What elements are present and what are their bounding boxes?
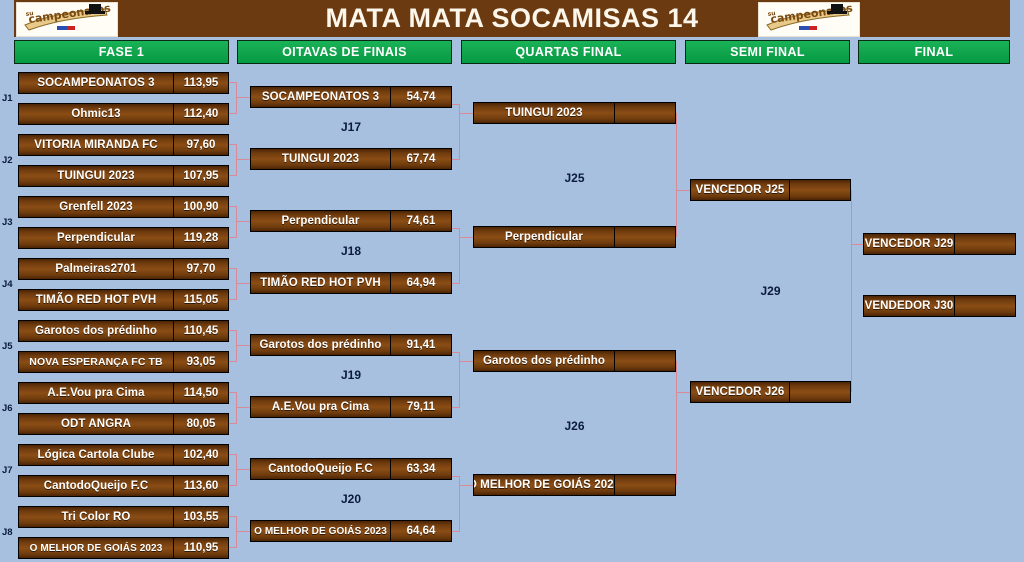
- campeonatos-logo-icon-right: campeonatos su: [758, 2, 860, 37]
- team-score: 79,11: [390, 397, 451, 417]
- team-name: NOVA ESPERANÇA FC TB: [19, 352, 173, 372]
- team-score: 113,95: [173, 73, 228, 93]
- team-name: SOCAMPEONATOS 3: [19, 73, 173, 93]
- match-label-j8: J8: [2, 527, 13, 538]
- connector: [459, 485, 473, 486]
- connector: [236, 531, 250, 532]
- match-entry[interactable]: VENDEDOR J30: [863, 295, 1016, 317]
- team-name: Tri Color RO: [19, 507, 173, 527]
- match-entry[interactable]: ODT ANGRA80,05: [18, 413, 229, 435]
- team-name: TIMÃO RED HOT PVH: [251, 273, 390, 293]
- title-bar: MATA MATA SOCAMISAS 14: [14, 0, 1010, 37]
- match-entry[interactable]: VENCEDOR J25: [690, 179, 851, 201]
- connector: [676, 392, 690, 393]
- team-name: Grenfell 2023: [19, 197, 173, 217]
- team-score: 119,28: [173, 228, 228, 248]
- team-name: VENCEDOR J25: [691, 180, 789, 200]
- connector: [459, 113, 473, 114]
- team-score: 110,45: [173, 321, 228, 341]
- page-title: MATA MATA SOCAMISAS 14: [326, 3, 699, 34]
- team-name: ODT ANGRA: [19, 414, 173, 434]
- team-name: O MELHOR DE GOIÁS 2023: [251, 521, 390, 541]
- match-entry[interactable]: O MELHOR DE GOIÁS 2023110,95: [18, 537, 229, 559]
- team-name: Perpendicular: [19, 228, 173, 248]
- column-header-semi: SEMI FINAL: [685, 40, 850, 64]
- match-entry[interactable]: Grenfell 2023100,90: [18, 196, 229, 218]
- team-name: Perpendicular: [251, 211, 390, 231]
- connector: [236, 345, 250, 346]
- team-name: A.E.Vou pra Cima: [251, 397, 390, 417]
- match-entry[interactable]: TUINGUI 202367,74: [250, 148, 452, 170]
- connector: [236, 330, 237, 362]
- column-header-label: FASE 1: [99, 45, 144, 59]
- match-label-j18: J18: [250, 244, 452, 258]
- column-header-final: FINAL: [858, 40, 1010, 64]
- match-entry[interactable]: TIMÃO RED HOT PVH115,05: [18, 289, 229, 311]
- team-score: [789, 382, 850, 402]
- match-entry[interactable]: Perpendicular: [473, 226, 676, 248]
- team-name: A.E.Vou pra Cima: [19, 383, 173, 403]
- team-name: TUINGUI 2023: [474, 103, 614, 123]
- match-entry[interactable]: TUINGUI 2023107,95: [18, 165, 229, 187]
- match-entry[interactable]: Garotos dos prédinho110,45: [18, 320, 229, 342]
- team-name: CantodoQueijo F.C: [19, 476, 173, 496]
- match-entry[interactable]: Perpendicular74,61: [250, 210, 452, 232]
- match-entry[interactable]: VENCEDOR J26: [690, 381, 851, 403]
- match-entry[interactable]: Ohmic13112,40: [18, 103, 229, 125]
- match-label-j19: J19: [250, 368, 452, 382]
- column-header-label: QUARTAS FINAL: [515, 45, 621, 59]
- column-header-label: OITAVAS DE FINAIS: [282, 45, 407, 59]
- connector: [851, 244, 863, 245]
- connector: [236, 516, 237, 548]
- column-header-label: FINAL: [915, 45, 954, 59]
- connector: [236, 407, 250, 408]
- connector: [236, 206, 237, 238]
- team-name: CantodoQueijo F.C: [251, 459, 390, 479]
- match-label-j7: J7: [2, 465, 13, 476]
- connector: [236, 469, 250, 470]
- match-label-j2: J2: [2, 155, 13, 166]
- match-label-j1: J1: [2, 93, 13, 104]
- connector: [676, 113, 677, 237]
- connector: [676, 361, 677, 485]
- team-name: TUINGUI 2023: [251, 149, 390, 169]
- match-entry[interactable]: Palmeiras270197,70: [18, 258, 229, 280]
- team-name: Garotos dos prédinho: [19, 321, 173, 341]
- team-score: 113,60: [173, 476, 228, 496]
- team-score: [614, 227, 675, 247]
- team-score: 80,05: [173, 414, 228, 434]
- match-entry[interactable]: VENCEDOR J29: [863, 233, 1016, 255]
- match-entry[interactable]: Garotos dos prédinho: [473, 350, 676, 372]
- team-name: TUINGUI 2023: [19, 166, 173, 186]
- team-score: 103,55: [173, 507, 228, 527]
- match-entry[interactable]: CantodoQueijo F.C113,60: [18, 475, 229, 497]
- team-score: 54,74: [390, 87, 451, 107]
- team-score: 74,61: [390, 211, 451, 231]
- connector: [236, 221, 250, 222]
- connector: [236, 268, 237, 300]
- team-name: O MELHOR DE GOIÁS 2023: [19, 538, 173, 558]
- team-score: [954, 234, 1015, 254]
- team-name: Palmeiras2701: [19, 259, 173, 279]
- column-header-oitavas: OITAVAS DE FINAIS: [237, 40, 452, 64]
- connector: [236, 454, 237, 486]
- column-header-label: SEMI FINAL: [730, 45, 805, 59]
- connector: [676, 190, 690, 191]
- team-name: Lógica Cartola Clube: [19, 445, 173, 465]
- team-score: 102,40: [173, 445, 228, 465]
- match-label-j3: J3: [2, 217, 13, 228]
- team-score: 64,64: [390, 521, 451, 541]
- connector: [236, 283, 250, 284]
- match-label-j20: J20: [250, 492, 452, 506]
- match-entry[interactable]: Tri Color RO103,55: [18, 506, 229, 528]
- connector: [236, 144, 237, 176]
- campeonatos-logo-icon: campeonatos su: [16, 2, 118, 37]
- team-score: 100,90: [173, 197, 228, 217]
- team-name: Garotos dos prédinho: [474, 351, 614, 371]
- team-score: [954, 296, 1015, 316]
- column-header-quartas: QUARTAS FINAL: [461, 40, 676, 64]
- match-entry[interactable]: NOVA ESPERANÇA FC TB93,05: [18, 351, 229, 373]
- team-name: O MELHOR DE GOIÁS 2023: [474, 475, 614, 495]
- svg-text:su: su: [767, 10, 776, 18]
- team-name: VENCEDOR J29: [864, 234, 954, 254]
- match-entry[interactable]: TUINGUI 2023: [473, 102, 676, 124]
- team-name: VENCEDOR J26: [691, 382, 789, 402]
- team-score: 107,95: [173, 166, 228, 186]
- team-score: 110,95: [173, 538, 228, 558]
- match-entry[interactable]: TIMÃO RED HOT PVH64,94: [250, 272, 452, 294]
- team-score: 63,34: [390, 459, 451, 479]
- match-entry[interactable]: SOCAMPEONATOS 3113,95: [18, 72, 229, 94]
- match-entry[interactable]: Perpendicular119,28: [18, 227, 229, 249]
- connector: [236, 159, 250, 160]
- match-label-j17: J17: [250, 120, 452, 134]
- match-label-j26: J26: [473, 419, 676, 433]
- connector: [851, 190, 852, 392]
- connector: [459, 361, 473, 362]
- team-score: [614, 351, 675, 371]
- team-score: 114,50: [173, 383, 228, 403]
- column-header-fase-1: FASE 1: [14, 40, 229, 64]
- team-score: 67,74: [390, 149, 451, 169]
- team-score: 97,70: [173, 259, 228, 279]
- connector: [236, 82, 237, 114]
- team-score: 115,05: [173, 290, 228, 310]
- match-entry[interactable]: A.E.Vou pra Cima114,50: [18, 382, 229, 404]
- team-score: 93,05: [173, 352, 228, 372]
- team-score: 112,40: [173, 104, 228, 124]
- tournament-bracket: MATA MATA SOCAMISAS 14 campeonatos su ca…: [0, 0, 1024, 562]
- match-label-j4: J4: [2, 279, 13, 290]
- svg-text:su: su: [25, 10, 34, 18]
- team-name: Garotos dos prédinho: [251, 335, 390, 355]
- team-name: VITORIA MIRANDA FC: [19, 135, 173, 155]
- team-name: Ohmic13: [19, 104, 173, 124]
- team-name: SOCAMPEONATOS 3: [251, 87, 390, 107]
- team-score: [789, 180, 850, 200]
- connector: [459, 237, 473, 238]
- team-score: 91,41: [390, 335, 451, 355]
- match-label-j29: J29: [690, 284, 851, 298]
- team-name: VENDEDOR J30: [864, 296, 954, 316]
- connector: [236, 392, 237, 424]
- match-entry[interactable]: A.E.Vou pra Cima79,11: [250, 396, 452, 418]
- match-label-j6: J6: [2, 403, 13, 414]
- match-entry[interactable]: Lógica Cartola Clube102,40: [18, 444, 229, 466]
- team-score: 97,60: [173, 135, 228, 155]
- match-entry[interactable]: VITORIA MIRANDA FC97,60: [18, 134, 229, 156]
- match-label-j5: J5: [2, 341, 13, 352]
- match-entry[interactable]: CantodoQueijo F.C63,34: [250, 458, 452, 480]
- match-entry[interactable]: SOCAMPEONATOS 354,74: [250, 86, 452, 108]
- match-entry[interactable]: O MELHOR DE GOIÁS 202364,64: [250, 520, 452, 542]
- team-score: [614, 475, 675, 495]
- team-score: 64,94: [390, 273, 451, 293]
- match-label-j25: J25: [473, 171, 676, 185]
- team-name: Perpendicular: [474, 227, 614, 247]
- team-name: TIMÃO RED HOT PVH: [19, 290, 173, 310]
- match-entry[interactable]: O MELHOR DE GOIÁS 2023: [473, 474, 676, 496]
- connector: [236, 97, 250, 98]
- match-entry[interactable]: Garotos dos prédinho91,41: [250, 334, 452, 356]
- team-score: [614, 103, 675, 123]
